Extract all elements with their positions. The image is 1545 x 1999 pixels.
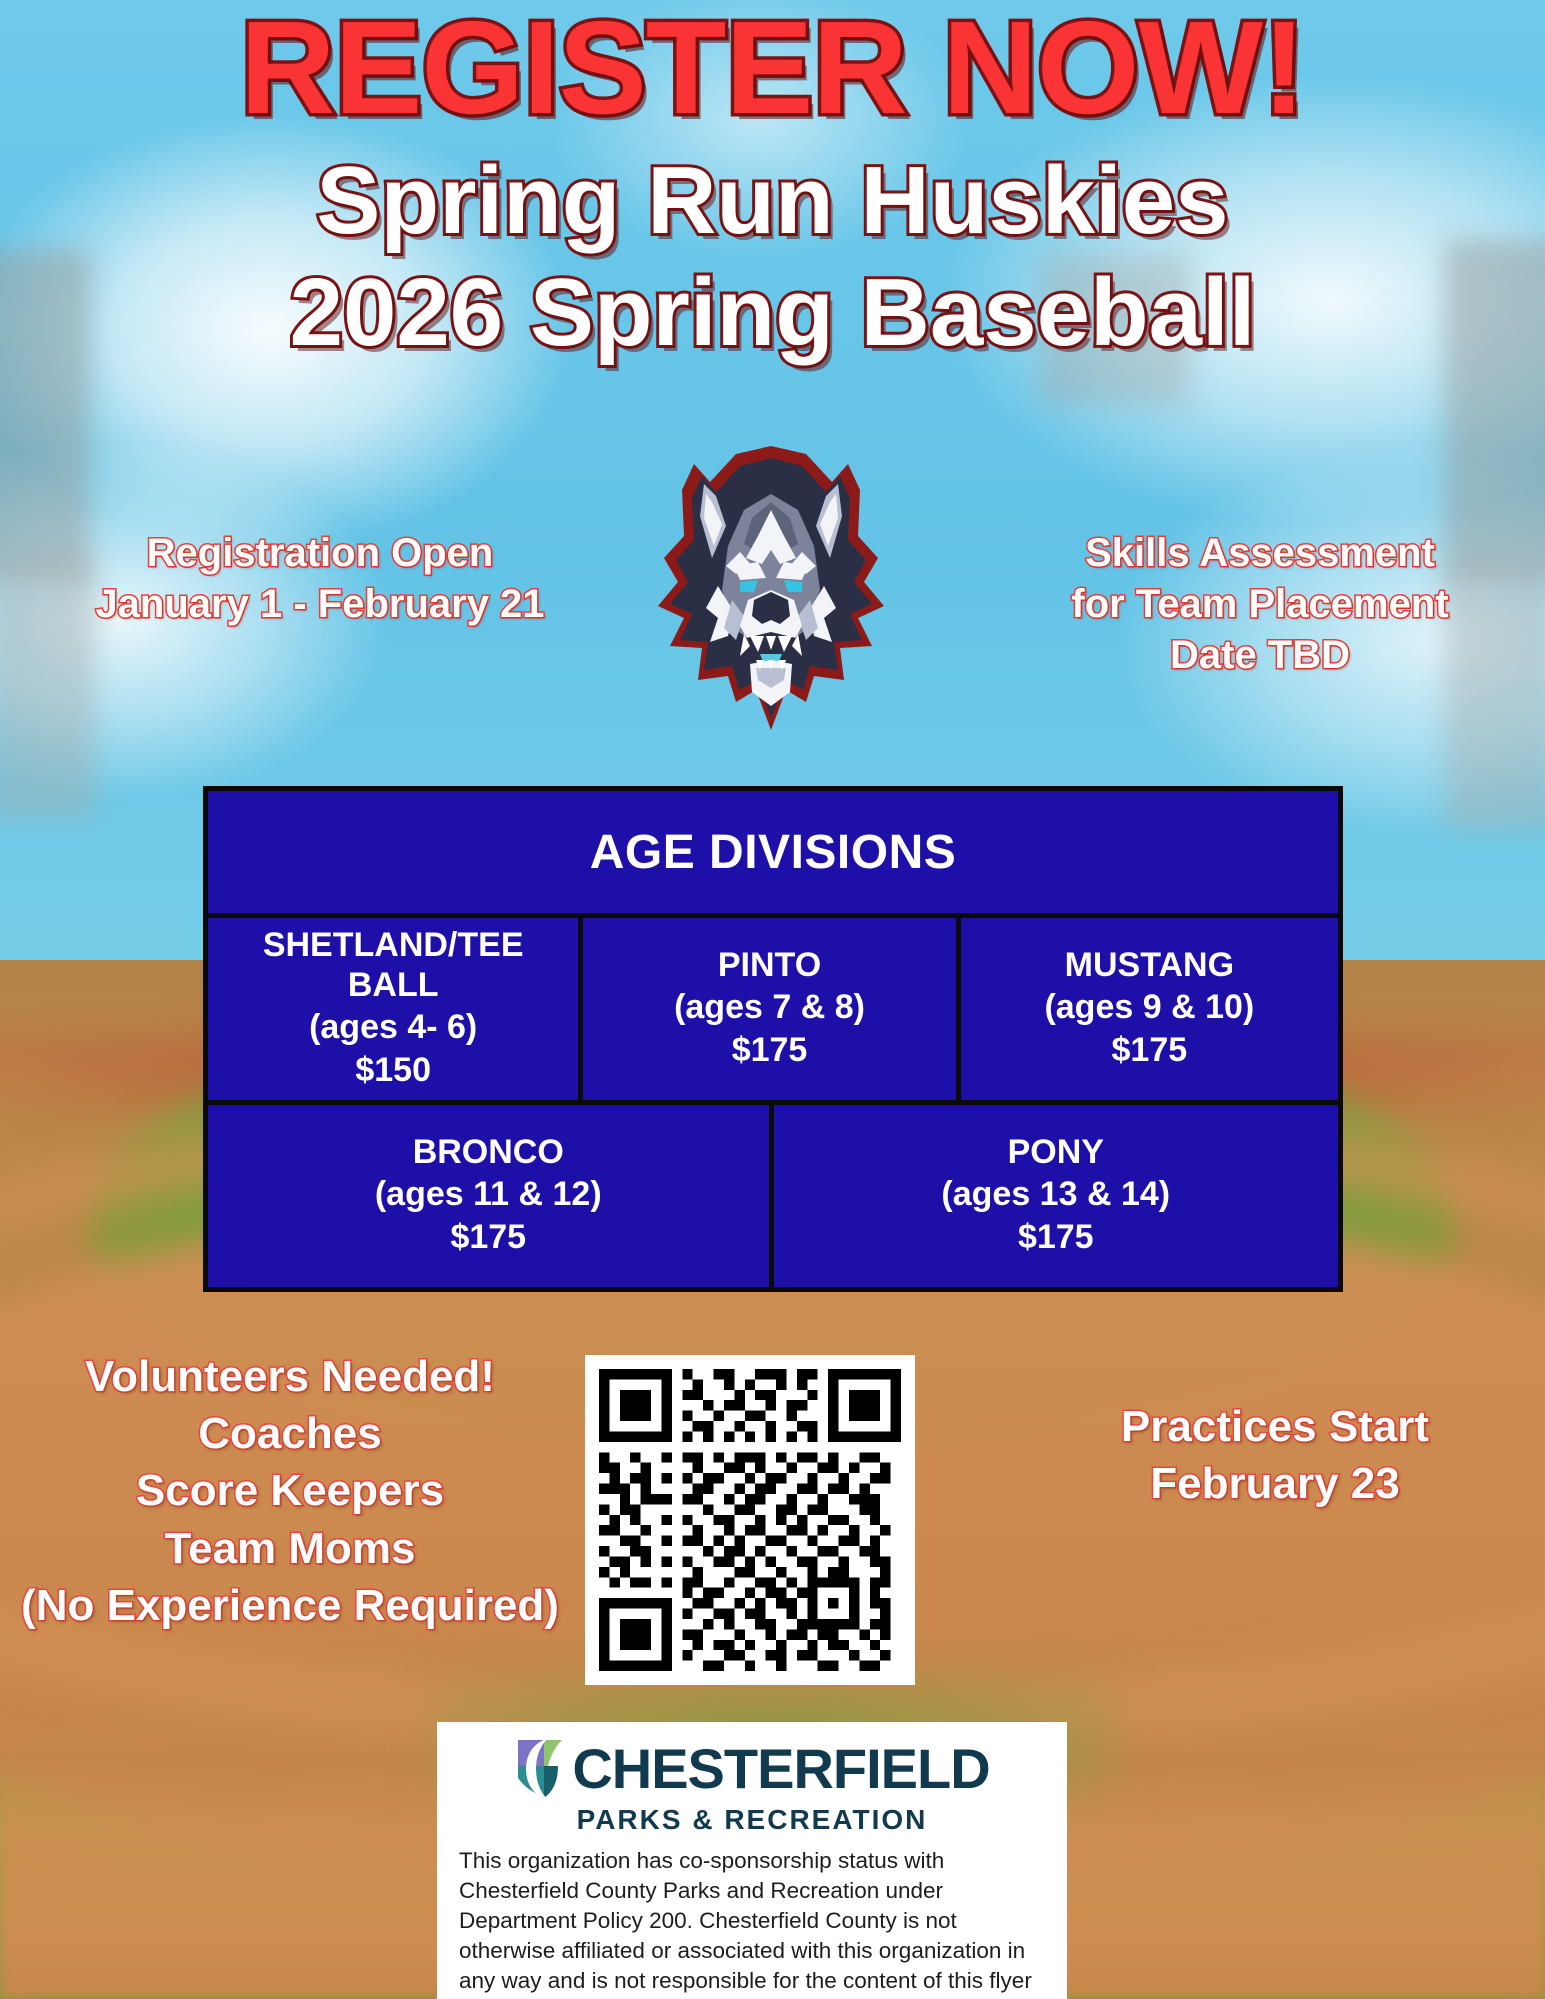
registration-dates-block: Registration Open January 1 - February 2…: [60, 528, 580, 630]
division-cell-pinto: PINTO (ages 7 & 8) $175: [583, 918, 955, 1100]
table-row: BRONCO (ages 11 & 12) $175 PONY (ages 13…: [208, 1105, 1338, 1287]
season-title: 2026 Spring Baseball: [0, 262, 1545, 364]
division-ages: (ages 13 & 14): [941, 1173, 1170, 1217]
age-divisions-title: AGE DIVISIONS: [208, 791, 1338, 913]
skills-assessment-date: Date TBD: [1025, 630, 1495, 681]
organization-title: Spring Run Huskies: [0, 150, 1545, 252]
division-name: SHETLAND/TEE BALL: [214, 925, 572, 1005]
sponsor-card: CHESTERFIELD PARKS & RECREATION This org…: [437, 1722, 1067, 1999]
division-fee: $175: [1018, 1216, 1094, 1260]
division-name: BRONCO: [413, 1132, 564, 1172]
division-ages: (ages 9 & 10): [1044, 986, 1254, 1030]
volunteer-role-score-keepers: Score Keepers: [10, 1462, 570, 1519]
division-ages: (ages 11 & 12): [375, 1173, 602, 1217]
division-fee: $175: [1112, 1029, 1188, 1073]
husky-mascot-icon: [640, 440, 902, 735]
division-ages: (ages 4- 6): [309, 1006, 477, 1050]
division-cell-shetland: SHETLAND/TEE BALL (ages 4- 6) $150: [208, 918, 578, 1100]
sponsor-disclaimer: This organization has co-sponsorship sta…: [459, 1846, 1045, 1999]
volunteers-block: Volunteers Needed! Coaches Score Keepers…: [10, 1348, 570, 1634]
division-cell-pony: PONY (ages 13 & 14) $175: [774, 1105, 1338, 1287]
division-name: PONY: [1008, 1132, 1104, 1172]
division-fee: $150: [355, 1049, 431, 1093]
division-cell-bronco: BRONCO (ages 11 & 12) $175: [208, 1105, 769, 1287]
practices-label: Practices Start: [1065, 1398, 1485, 1455]
volunteer-role-coaches: Coaches: [10, 1405, 570, 1462]
chesterfield-logo: CHESTERFIELD PARKS & RECREATION: [459, 1736, 1045, 1836]
flyer-canvas: REGISTER NOW! Spring Run Huskies 2026 Sp…: [0, 0, 1545, 1999]
volunteers-note: (No Experience Required): [10, 1577, 570, 1634]
practices-date: February 23: [1065, 1455, 1485, 1512]
division-name: MUSTANG: [1065, 945, 1234, 985]
skills-assessment-label: Skills Assessment: [1025, 528, 1495, 579]
division-name: PINTO: [718, 945, 821, 985]
skills-assessment-block: Skills Assessment for Team Placement Dat…: [1025, 528, 1495, 682]
division-fee: $175: [450, 1216, 526, 1260]
chesterfield-shield-icon: [514, 1736, 574, 1802]
division-ages: (ages 7 & 8): [674, 986, 865, 1030]
division-fee: $175: [732, 1029, 808, 1073]
sponsor-name: CHESTERFIELD: [572, 1741, 989, 1797]
sponsor-subtitle: PARKS & RECREATION: [577, 1804, 928, 1836]
division-cell-mustang: MUSTANG (ages 9 & 10) $175: [961, 918, 1338, 1100]
registration-open-label: Registration Open: [60, 528, 580, 579]
volunteers-heading: Volunteers Needed!: [10, 1348, 570, 1405]
table-row: SHETLAND/TEE BALL (ages 4- 6) $150 PINTO…: [208, 918, 1338, 1100]
registration-qr-code[interactable]: [585, 1355, 915, 1685]
registration-open-dates: January 1 - February 21: [60, 579, 580, 630]
page-title: REGISTER NOW!: [0, 2, 1545, 134]
practices-block: Practices Start February 23: [1065, 1398, 1485, 1512]
skills-assessment-purpose: for Team Placement: [1025, 579, 1495, 630]
age-divisions-table: AGE DIVISIONS SHETLAND/TEE BALL (ages 4-…: [203, 786, 1343, 1292]
volunteer-role-team-moms: Team Moms: [10, 1520, 570, 1577]
